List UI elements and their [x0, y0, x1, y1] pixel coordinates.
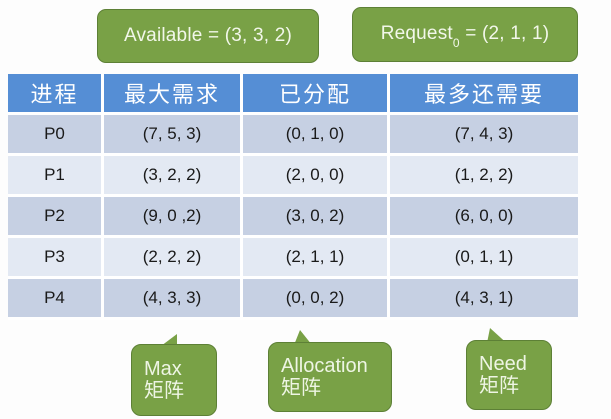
cell-allocation: (0, 1, 0)	[243, 115, 390, 156]
column-header-process: 进程	[8, 74, 104, 115]
cell-need: (4, 3, 1)	[390, 279, 578, 320]
cell-max: (9, 0 ,2)	[104, 197, 243, 238]
cell-need: (7, 4, 3)	[390, 115, 578, 156]
cell-max: (4, 3, 3)	[104, 279, 243, 320]
cell-allocation: (3, 0, 2)	[243, 197, 390, 238]
cell-process: P1	[8, 156, 104, 197]
request-vector-label: Request0 = (2, 1, 1)	[381, 23, 550, 47]
cell-process: P4	[8, 279, 104, 320]
cell-process: P3	[8, 238, 104, 279]
available-vector-box: Available = (3, 3, 2)	[97, 9, 319, 63]
callout-need-bubble: Need 矩阵	[466, 340, 552, 410]
table-row: P1 (3, 2, 2) (2, 0, 0) (1, 2, 2)	[8, 156, 578, 197]
cell-need: (0, 1, 1)	[390, 238, 578, 279]
cell-need: (6, 0, 0)	[390, 197, 578, 238]
cell-max: (7, 5, 3)	[104, 115, 243, 156]
callout-allocation-bubble: Allocation 矩阵	[268, 342, 392, 412]
request-prefix: Request	[381, 23, 453, 44]
table-row: P0 (7, 5, 3) (0, 1, 0) (7, 4, 3)	[8, 115, 578, 156]
cell-allocation: (2, 0, 0)	[243, 156, 390, 197]
cell-process: P2	[8, 197, 104, 238]
table-header-row: 进程 最大需求 已分配 最多还需要	[8, 74, 578, 115]
column-header-need: 最多还需要	[390, 74, 578, 115]
callout-allocation-line2: 矩阵	[281, 377, 321, 399]
table-row: P3 (2, 2, 2) (2, 1, 1) (0, 1, 1)	[8, 238, 578, 279]
column-header-allocation: 已分配	[243, 74, 390, 115]
request-subscript: 0	[453, 36, 460, 50]
cell-need: (1, 2, 2)	[390, 156, 578, 197]
table-row: P2 (9, 0 ,2) (3, 0, 2) (6, 0, 0)	[8, 197, 578, 238]
resource-allocation-table: 进程 最大需求 已分配 最多还需要 P0 (7, 5, 3) (0, 1, 0)…	[8, 74, 578, 320]
cell-process: P0	[8, 115, 104, 156]
cell-allocation: (0, 0, 2)	[243, 279, 390, 320]
column-header-max: 最大需求	[104, 74, 243, 115]
callout-need-line2: 矩阵	[479, 375, 519, 397]
callout-max-bubble: Max 矩阵	[131, 344, 217, 416]
cell-max: (3, 2, 2)	[104, 156, 243, 197]
cell-max: (2, 2, 2)	[104, 238, 243, 279]
callout-max-line1: Max	[144, 358, 182, 380]
request-suffix: = (2, 1, 1)	[460, 23, 550, 44]
request-vector-box: Request0 = (2, 1, 1)	[352, 7, 578, 62]
available-vector-label: Available = (3, 3, 2)	[124, 25, 292, 47]
cell-allocation: (2, 1, 1)	[243, 238, 390, 279]
callout-need-line1: Need	[479, 353, 527, 375]
table-row: P4 (4, 3, 3) (0, 0, 2) (4, 3, 1)	[8, 279, 578, 320]
callout-max-line2: 矩阵	[144, 380, 184, 402]
callout-allocation-line1: Allocation	[281, 355, 368, 377]
